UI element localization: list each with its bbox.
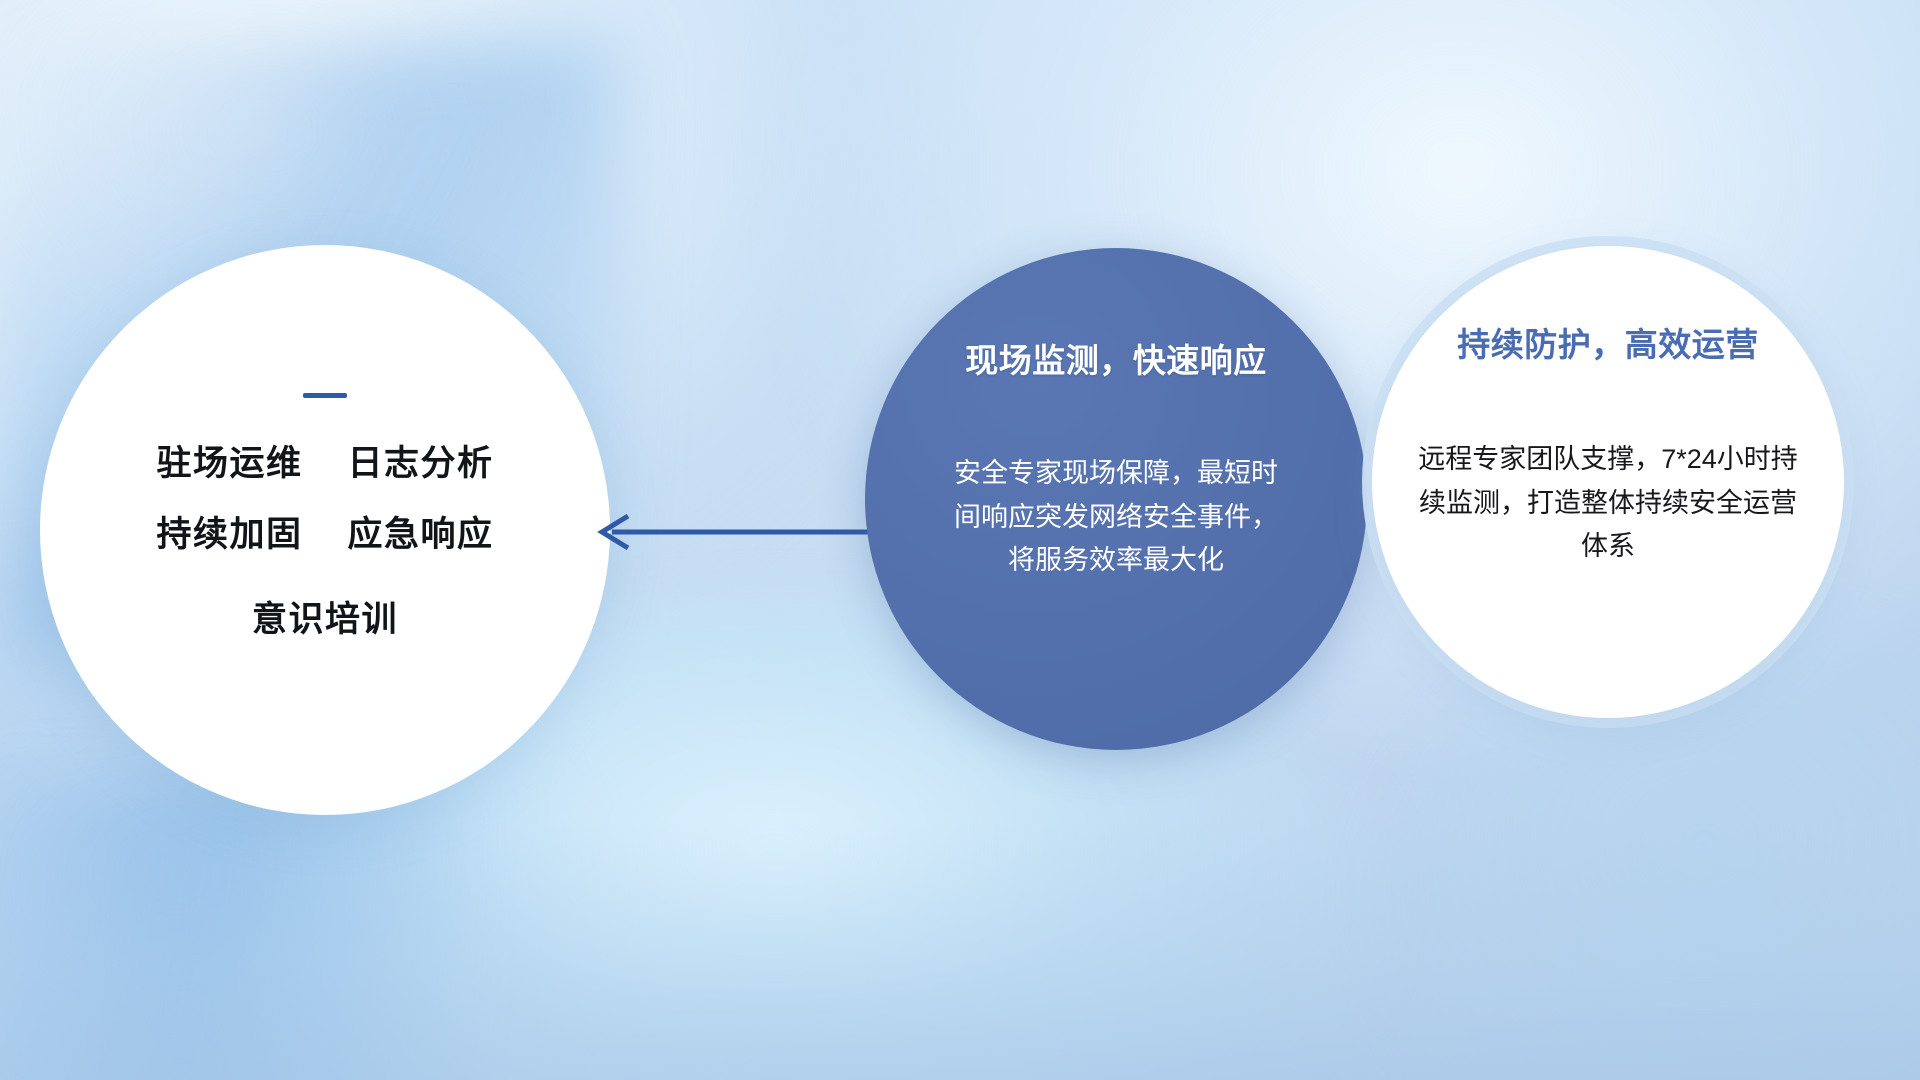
slide-canvas: 驻场运维 日志分析 持续加固 应急响应 意识培训 现场监测，快速响应 安全专家现… xyxy=(0,0,1920,1080)
right-operations-circle[interactable]: 持续防护，高效运营 远程专家团队支撑，7*24小时持续监测，打造整体持续安全运营… xyxy=(1372,246,1844,718)
divider-dash-icon xyxy=(303,393,347,398)
left-circle-content: 驻场运维 日志分析 持续加固 应急响应 意识培训 xyxy=(40,245,610,815)
right-circle-content: 持续防护，高效运营 远程专家团队支撑，7*24小时持续监测，打造整体持续安全运营… xyxy=(1372,246,1844,718)
left-keyword-line-1: 驻场运维 日志分析 xyxy=(157,446,494,481)
arrow-left-icon xyxy=(588,508,888,556)
right-circle-title: 持续防护，高效运营 xyxy=(1457,318,1759,366)
left-keyword-line-2: 持续加固 应急响应 xyxy=(157,517,494,552)
background-haze-bottom xyxy=(0,820,1920,1080)
middle-onsite-circle[interactable]: 现场监测，快速响应 安全专家现场保障，最短时间响应突发网络安全事件，将服务效率最… xyxy=(865,248,1367,750)
left-keyword-line-3: 意识培训 xyxy=(252,602,398,637)
middle-circle-title: 现场监测，快速响应 xyxy=(965,334,1267,382)
middle-circle-body: 安全专家现场保障，最短时间响应突发网络安全事件，将服务效率最大化 xyxy=(951,452,1281,583)
middle-circle-content: 现场监测，快速响应 安全专家现场保障，最短时间响应突发网络安全事件，将服务效率最… xyxy=(865,248,1367,750)
left-capability-circle[interactable]: 驻场运维 日志分析 持续加固 应急响应 意识培训 xyxy=(40,245,610,815)
right-circle-body: 远程专家团队支撑，7*24小时持续监测，打造整体持续安全运营体系 xyxy=(1408,438,1808,569)
